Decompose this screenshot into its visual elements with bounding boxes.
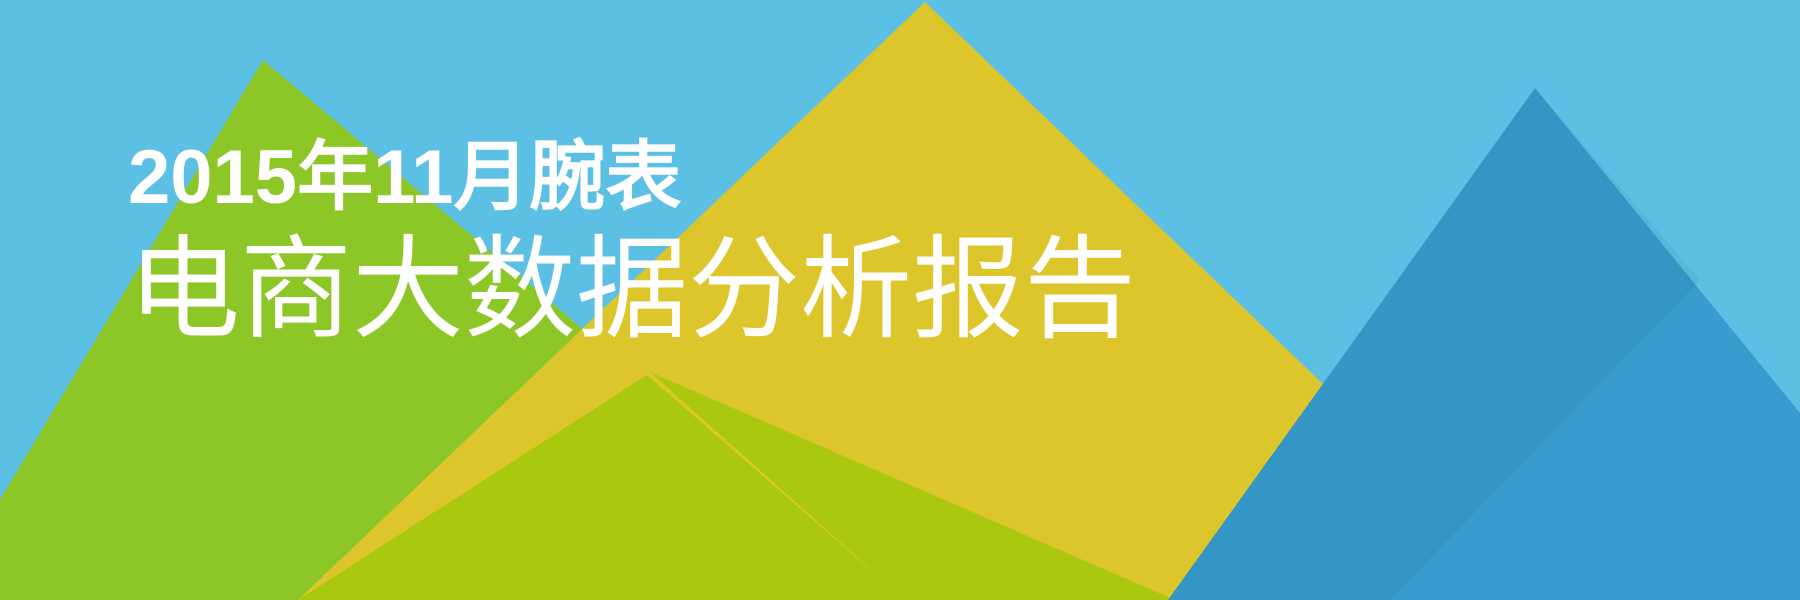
title-line-secondary: 电商大数据分析报告 [128, 234, 1136, 346]
title-line-primary: 2015年11月腕表 [128, 140, 1136, 216]
cover-banner: 2015年11月腕表 电商大数据分析报告 [0, 0, 1800, 600]
page-title: 2015年11月腕表 电商大数据分析报告 [128, 140, 1136, 346]
